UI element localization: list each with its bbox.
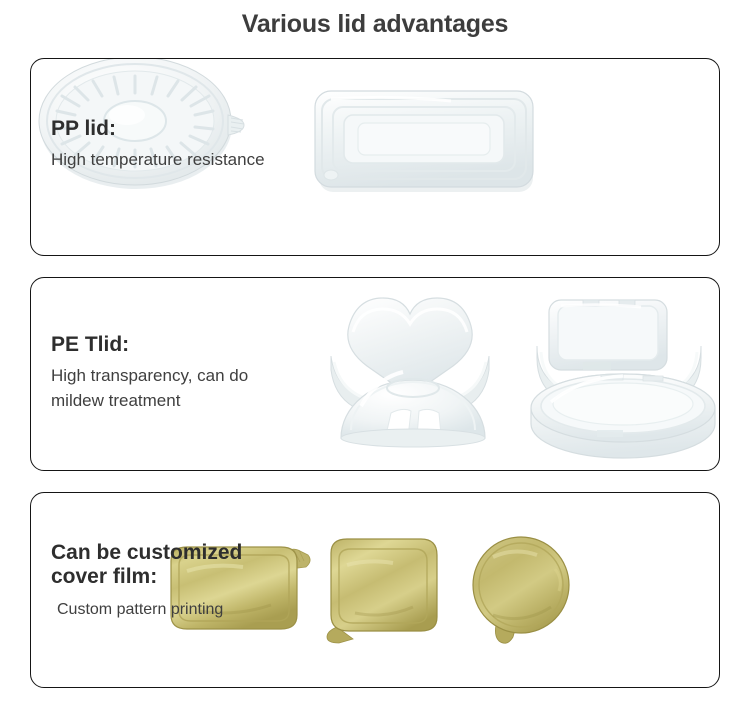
panel-pp-lid: PP lid: High temperature resistance (30, 58, 720, 256)
panel-cover-film: Can be customized cover film: Custom pat… (30, 492, 720, 688)
square-gold-foil-lid-graphic (327, 539, 437, 643)
pe-lid-heading: PE Tlid: (51, 333, 248, 357)
panel-pe-lid: PE Tlid: High transparency, can do milde… (30, 277, 720, 471)
dome-cup-pe-lid-graphic (341, 372, 485, 447)
pp-lid-subtext: High temperature resistance (51, 147, 265, 173)
page-title: Various lid advantages (0, 10, 750, 39)
square-pe-lid-graphic (537, 300, 701, 409)
cover-film-text-block: Can be customized cover film: Custom pat… (51, 541, 242, 622)
oval-pe-lid-graphic (531, 374, 715, 458)
heart-dome-pe-lid-graphic (331, 298, 489, 419)
pe-lid-subtext: High transparency, can do mildew treatme… (51, 363, 248, 415)
pp-lid-text-block: PP lid: High temperature resistance (51, 117, 265, 172)
round-gold-foil-lid-graphic (473, 537, 569, 643)
rectangular-pp-lid-graphic (315, 91, 533, 192)
cover-film-heading: Can be customized cover film: (51, 541, 242, 588)
cover-film-subtext: Custom pattern printing (51, 594, 242, 622)
pp-lid-heading: PP lid: (51, 117, 265, 141)
pe-lid-text-block: PE Tlid: High transparency, can do milde… (51, 333, 248, 414)
